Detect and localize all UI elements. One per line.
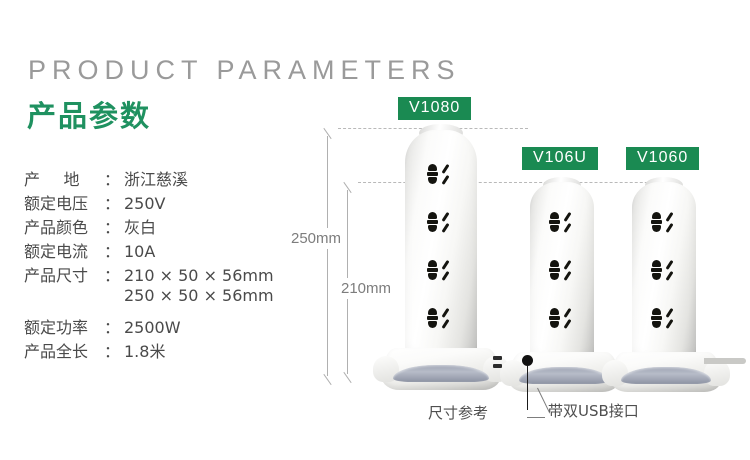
spec-value-current: 10A: [120, 242, 155, 261]
spec-label-origin-1: 产: [24, 166, 40, 190]
socket-pin-top: [550, 212, 559, 219]
spec-value-size-2: 250 × 50 × 56mm: [120, 286, 274, 305]
strip-body-v1060: [632, 182, 696, 364]
usb-callout-line: [527, 365, 528, 410]
spec-colon-voltage: ：: [104, 190, 120, 214]
socket-pin-top: [428, 212, 437, 219]
socket-pin-middle: [651, 220, 662, 224]
usb-note-label: 带双USB接口: [548, 400, 639, 421]
power-switch[interactable]: [393, 365, 490, 382]
spec-value-length: 1.8米: [120, 338, 165, 362]
dimension-label-210: 210mm: [338, 278, 394, 299]
usb-port-1: [493, 356, 502, 360]
socket-pin-top: [652, 260, 661, 267]
dimension-label-250: 250mm: [288, 228, 344, 249]
socket-pin-middle: [427, 316, 438, 320]
socket-pin-top: [428, 260, 437, 267]
socket-pin-middle: [549, 316, 560, 320]
socket-pin-middle: [549, 220, 560, 224]
specification-list: 产 地 ： 浙江慈溪 额定电压 ： 250V 产品颜色 ： 灰白 额定电流 ：: [24, 166, 304, 362]
product-badge-v106u: V106U: [522, 147, 598, 170]
spec-label-color: 产品颜色: [24, 214, 88, 238]
power-cord-v1060: [704, 358, 746, 364]
spec-value-color: 灰白: [120, 214, 156, 238]
spec-label-origin-2: 地: [63, 166, 79, 190]
product-badge-v1060: V1060: [626, 147, 699, 170]
spec-label-voltage: 额定电压: [24, 190, 88, 214]
page-title-chinese: 产品参数: [27, 93, 151, 135]
spec-label-length: 产品全长: [24, 338, 88, 362]
size-callout-underline: [527, 417, 545, 418]
usb-port-2: [493, 364, 502, 368]
product-badge-v1080: V1080: [398, 97, 471, 120]
spec-value-origin: 浙江慈溪: [120, 166, 188, 190]
strip-body-v106u: [530, 182, 594, 364]
spec-row-size: 产品尺寸 ： 210 × 50 × 56mm: [24, 262, 304, 286]
dimension-line-250: [327, 136, 328, 376]
spec-row-origin: 产 地 ： 浙江慈溪: [24, 166, 304, 190]
socket-pin-middle: [651, 268, 662, 272]
power-switch[interactable]: [519, 367, 609, 384]
product-parameters-page: PRODUCT PARAMETERS 产品参数 产 地 ： 浙江慈溪 额定电压 …: [0, 0, 750, 460]
spec-colon-origin: ：: [104, 166, 120, 190]
socket-pin-top: [550, 260, 559, 267]
socket-pin-middle: [427, 220, 438, 224]
spec-colon-current: ：: [104, 238, 120, 262]
power-strip-v1080: [405, 130, 477, 380]
socket-pin-top: [550, 308, 559, 315]
spec-colon-size: ：: [104, 262, 120, 286]
spec-colon-color: ：: [104, 214, 120, 238]
spec-value-power: 2500W: [120, 318, 181, 337]
spec-label-size: 产品尺寸: [24, 262, 88, 286]
spec-label-power: 额定功率: [24, 314, 88, 338]
spec-row-current: 额定电流 ： 10A: [24, 238, 304, 262]
spec-value-size-1: 210 × 50 × 56mm: [120, 266, 274, 285]
strip-base-v1080: [382, 348, 500, 390]
spec-row-length: 产品全长 ： 1.8米: [24, 338, 304, 362]
size-reference-label: 尺寸参考: [428, 402, 488, 423]
socket-pin-top: [428, 164, 437, 171]
spec-row-voltage: 额定电压 ： 250V: [24, 190, 304, 214]
spec-row-power: 额定功率 ： 2500W: [24, 314, 304, 338]
socket-pin-top: [428, 308, 437, 315]
socket-pin-middle: [427, 172, 438, 176]
spec-colon-length: ：: [104, 338, 120, 362]
socket-pin-middle: [549, 268, 560, 272]
power-switch[interactable]: [621, 367, 711, 384]
page-title-english: PRODUCT PARAMETERS: [28, 55, 461, 86]
spec-value-voltage: 250V: [120, 194, 165, 213]
socket-pin-top: [652, 308, 661, 315]
socket-pin-middle: [427, 268, 438, 272]
power-strip-v106u: [530, 182, 594, 380]
socket-pin-top: [652, 212, 661, 219]
socket-pin-middle: [651, 316, 662, 320]
spec-colon-power: ：: [104, 314, 120, 338]
spec-label-current: 额定电流: [24, 238, 88, 262]
power-strip-v1060: [632, 182, 696, 380]
spec-row-color: 产品颜色 ： 灰白: [24, 214, 304, 238]
spec-row-size-alt: 250 × 50 × 56mm: [24, 286, 304, 310]
